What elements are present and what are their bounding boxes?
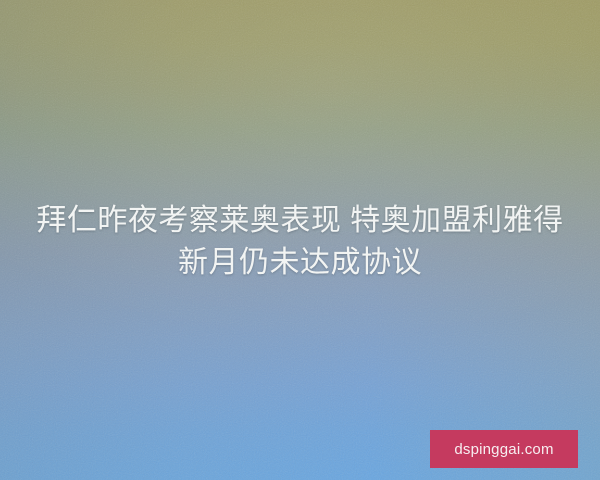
headline-card: 拜仁昨夜考察莱奥表现 特奥加盟利雅得 新月仍未达成协议 dspinggai.co… bbox=[0, 0, 600, 480]
watermark-badge: dspinggai.com bbox=[430, 430, 578, 468]
page-title: 拜仁昨夜考察莱奥表现 特奥加盟利雅得 新月仍未达成协议 bbox=[0, 200, 600, 284]
watermark-label: dspinggai.com bbox=[454, 442, 553, 457]
